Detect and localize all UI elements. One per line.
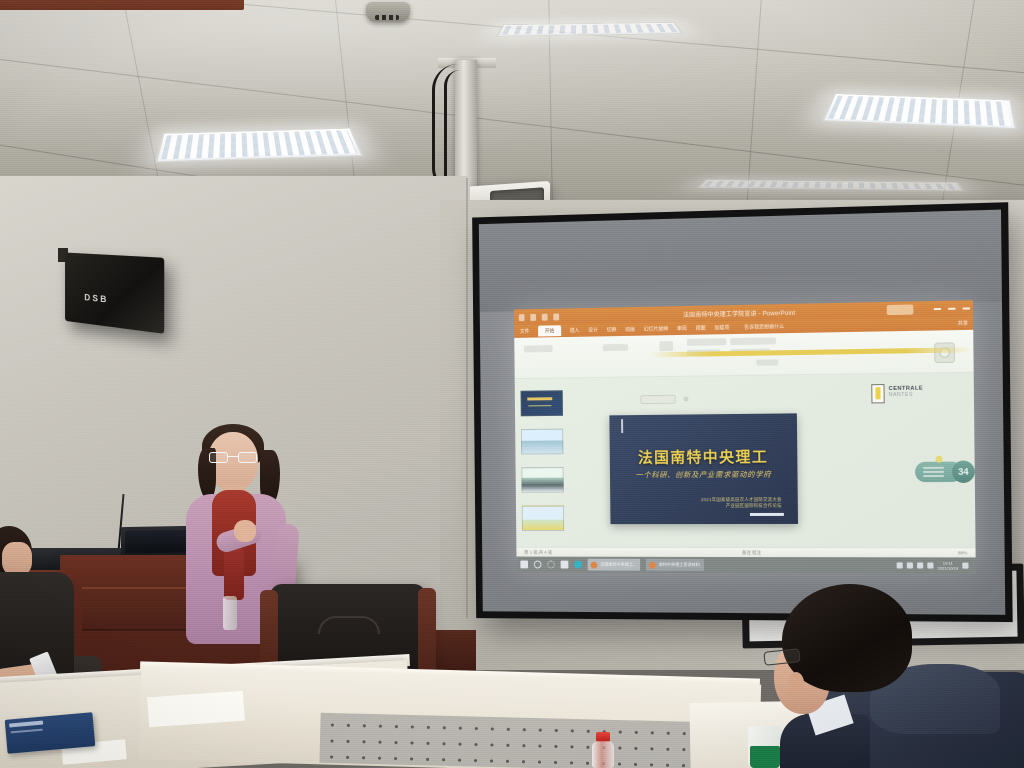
powerpoint-icon (591, 561, 598, 568)
tab-design[interactable]: 设计 (588, 327, 598, 334)
taskbar-clock[interactable]: 19:11 2021/10/19 (937, 560, 958, 570)
slide-underline-bar (750, 513, 784, 516)
projected-powerpoint-window[interactable]: 法国南特中央理工学院宣讲 - PowerPoint 文件 开始 插入 设计 切换… (514, 300, 976, 574)
lecture-room-scene: DSB 法国南特中央理工学院宣讲 - PowerPoint (0, 0, 1024, 768)
speaker-brand-label: DSB (84, 292, 108, 304)
slide-thumbnail[interactable] (521, 429, 563, 455)
wall-corner-seam (466, 178, 468, 618)
attendee-face (2, 542, 32, 576)
zoom-handle[interactable] (683, 397, 688, 402)
seated-attendee-right (752, 584, 1024, 768)
slide-subtitle: 一个科研、创新及产业需求驱动的学府 (610, 469, 798, 481)
taskbar-app-label: 法国南特中央理工... (600, 562, 636, 568)
task-view-icon[interactable] (561, 561, 569, 569)
sign-in-button[interactable] (887, 304, 914, 315)
close-icon[interactable] (963, 307, 970, 309)
taskbar-app-label: 南特中央理工宣讲材料 (659, 562, 700, 568)
slide-thumbnail[interactable] (521, 390, 563, 416)
current-slide[interactable]: 法国南特中央理工 一个科研、创新及产业需求驱动的学府 2021年国家级高层次人才… (609, 413, 798, 524)
slide-accent-mark (621, 419, 623, 433)
volume-icon[interactable] (917, 562, 923, 568)
projection-screen: 法国南特中央理工学院宣讲 - PowerPoint 文件 开始 插入 设计 切换… (472, 202, 1013, 622)
tab-slideshow[interactable]: 幻灯片放映 (644, 325, 669, 332)
powerpoint-icon (649, 561, 656, 568)
search-icon[interactable] (534, 561, 542, 569)
slide-thumbnail[interactable] (521, 467, 563, 493)
minimize-icon[interactable] (934, 308, 941, 310)
ppt-workspace: CENTRALE NANTES 法国南特中央理工 一个科研、创新及产业需求驱动的… (515, 373, 976, 558)
centrale-logo-mark-icon (871, 384, 884, 403)
ribbon-group-item[interactable] (659, 341, 673, 351)
slide-title: 法国南特中央理工 (610, 446, 798, 468)
water-bottle (592, 732, 614, 768)
attendee-head (0, 526, 32, 578)
tab-addins[interactable]: 加载项 (714, 324, 729, 331)
tell-me-box[interactable]: 告诉我您想做什么 (744, 323, 784, 331)
start-icon[interactable] (520, 561, 528, 569)
tab-insert[interactable]: 插入 (570, 327, 580, 334)
slide-footnote-line-2: 产业园区国际科技合作论坛 (701, 503, 782, 510)
tab-view[interactable]: 视图 (696, 325, 706, 332)
taskbar-app-secondary[interactable]: 南特中央理工宣讲材料 (646, 559, 704, 571)
smoke-detector-icon (366, 2, 410, 22)
presenter-glasses (209, 452, 257, 463)
slide-thumbnail[interactable] (522, 505, 564, 531)
slide-thumbnail-panel[interactable] (515, 378, 571, 556)
podium-top-surface (0, 0, 244, 10)
tab-review[interactable]: 审阅 (677, 325, 687, 332)
slide-editing-stage[interactable]: CENTRALE NANTES 法国南特中央理工 一个科研、创新及产业需求驱动的… (568, 373, 975, 558)
windows-taskbar[interactable]: 法国南特中央理工... 南特中央理工宣讲材料 19:11 2021/10/1 (516, 557, 975, 574)
table-perforated-skirt (319, 713, 750, 768)
system-tray[interactable]: 19:11 2021/10/19 (897, 560, 972, 570)
ribbon-group-item[interactable] (603, 344, 628, 351)
centrale-nantes-logo: CENTRALE NANTES (871, 381, 939, 404)
tab-animations[interactable]: 动画 (625, 326, 635, 333)
status-slide-count: 第 1 张,共 4 张 (524, 549, 552, 555)
tab-home[interactable]: 开始 (538, 325, 561, 336)
floating-count-badge[interactable]: 34 (915, 458, 976, 485)
notification-icon[interactable] (962, 563, 968, 569)
taskbar-app-powerpoint[interactable]: 法国南特中央理工... (588, 559, 641, 571)
status-notes-comments[interactable]: 备注 批注 (742, 550, 761, 556)
maximize-icon[interactable] (948, 308, 955, 310)
chair-back-detail (318, 616, 380, 634)
badge-dot-icon (935, 456, 942, 463)
network-icon[interactable] (907, 562, 913, 568)
screen-surface: 法国南特中央理工学院宣讲 - PowerPoint 文件 开始 插入 设计 切换… (479, 210, 1005, 615)
ime-icon[interactable] (927, 562, 933, 568)
slide-footnote: 2021年国家级高层次人才国际交流大会 产业园区国际科技合作论坛 (701, 497, 782, 510)
wall-speaker: DSB (65, 253, 164, 334)
screen-empty-area (479, 210, 1002, 313)
presenter-hand (234, 520, 256, 542)
badge-count: 34 (952, 460, 975, 483)
ribbon-group-item[interactable] (687, 338, 727, 346)
security-icon[interactable] (897, 562, 903, 568)
clock-date: 2021/10/19 (938, 566, 959, 571)
logo-line-2: NANTES (889, 393, 923, 399)
tab-file[interactable]: 文件 (520, 328, 530, 335)
status-zoom-level[interactable]: 88% (958, 550, 967, 555)
ribbon-group-item[interactable] (730, 337, 776, 345)
tab-transitions[interactable]: 切换 (607, 326, 617, 333)
share-button[interactable]: 共享 (958, 320, 968, 327)
zoom-control[interactable] (640, 395, 675, 404)
ribbon-group-item[interactable] (524, 345, 553, 352)
attendee-ear (788, 672, 804, 694)
ribbon-group-item[interactable] (756, 359, 778, 365)
cortana-icon[interactable] (547, 561, 555, 569)
browser-icon[interactable] (574, 561, 582, 569)
presenter-red-scarf-tail (224, 548, 244, 600)
bottle-body (592, 741, 614, 768)
podium-water-bottle (223, 596, 237, 630)
